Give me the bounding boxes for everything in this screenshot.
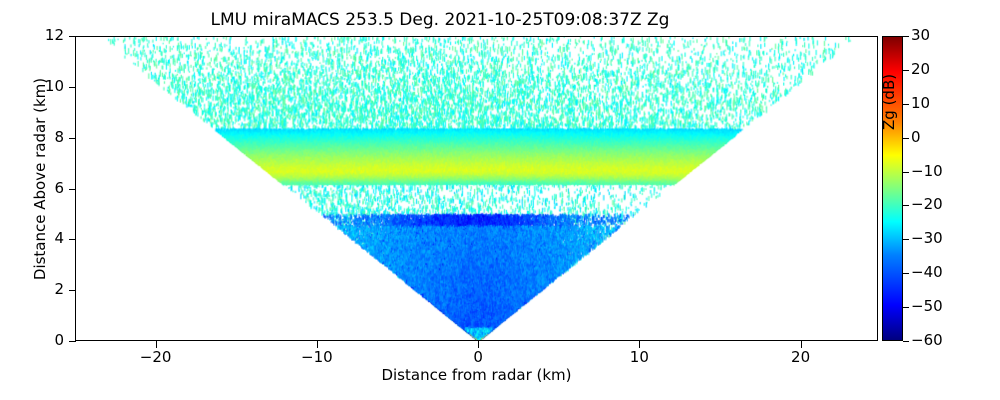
x-tick-label: 10 [609, 348, 669, 366]
colorbar-tick [903, 273, 909, 274]
colorbar-tick-label: 10 [911, 94, 930, 112]
y-tick [69, 36, 76, 37]
colorbar-tick [903, 239, 909, 240]
x-tick [639, 341, 640, 348]
y-tick-label: 12 [20, 26, 64, 44]
colorbar-tick [903, 307, 909, 308]
y-tick [69, 341, 76, 342]
x-tick [801, 341, 802, 348]
y-tick [69, 290, 76, 291]
colorbar-tick [903, 36, 909, 37]
y-tick [69, 239, 76, 240]
colorbar-tick-label: −40 [911, 263, 943, 281]
colorbar-tick-label: −30 [911, 229, 943, 247]
chart-title: LMU miraMACS 253.5 Deg. 2021-10-25T09:08… [0, 10, 880, 30]
x-tick-label: 20 [771, 348, 831, 366]
colorbar-tick [903, 341, 909, 342]
plot-axes [75, 36, 878, 341]
x-tick-label: 0 [448, 348, 508, 366]
x-tick [317, 341, 318, 348]
colorbar-tick [903, 205, 909, 206]
y-tick-label: 0 [20, 331, 64, 349]
colorbar-tick-label: 30 [911, 26, 930, 44]
colorbar-tick-label: −50 [911, 297, 943, 315]
x-axis-label: Distance from radar (km) [75, 366, 878, 384]
colorbar-tick-label: −20 [911, 195, 943, 213]
colorbar-tick [903, 172, 909, 173]
x-tick [156, 341, 157, 348]
y-tick [69, 87, 76, 88]
colorbar-tick [903, 138, 909, 139]
y-axis-label: Distance Above radar (km) [31, 54, 49, 304]
radar-reflectivity-plot [76, 37, 877, 340]
colorbar-tick-label: 20 [911, 60, 930, 78]
colorbar-tick-label: −60 [911, 331, 943, 349]
x-tick-label: −20 [126, 348, 186, 366]
colorbar-tick-label: −10 [911, 162, 943, 180]
y-tick [69, 138, 76, 139]
colorbar-tick [903, 104, 909, 105]
x-tick-label: −10 [287, 348, 347, 366]
colorbar-tick [903, 70, 909, 71]
colorbar-tick-label: 0 [911, 128, 921, 146]
colorbar-label: Zg (dB) [880, 0, 898, 130]
x-tick [478, 341, 479, 348]
radar-rhi-figure: LMU miraMACS 253.5 Deg. 2021-10-25T09:08… [0, 0, 1000, 400]
y-tick [69, 189, 76, 190]
